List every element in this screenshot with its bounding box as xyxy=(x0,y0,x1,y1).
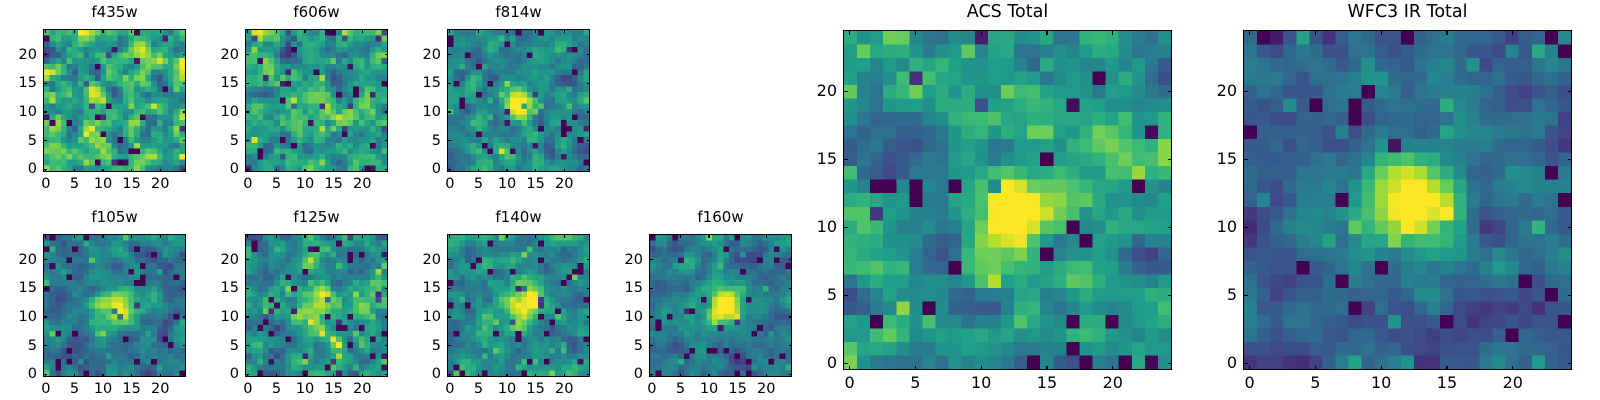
x-tick-label-wfc3-ir-total-0: 0 xyxy=(1244,375,1254,391)
x-tick-label-f814w-2: 10 xyxy=(498,177,516,192)
x-tick-label-f140w-2: 10 xyxy=(498,382,516,397)
y-tick-label-f160w-1: 5 xyxy=(591,338,643,353)
x-tick-top-f160w-2 xyxy=(708,234,709,238)
x-tick-f814w-2 xyxy=(506,169,507,173)
y-tick-f435w-2 xyxy=(43,111,47,112)
x-tick-label-f435w-3: 15 xyxy=(122,177,140,192)
x-tick-top-wfc3-ir-total-4 xyxy=(1512,30,1513,35)
x-tick-top-f606w-1 xyxy=(276,29,277,33)
x-tick-f125w-3 xyxy=(333,374,334,378)
x-tick-label-f606w-2: 10 xyxy=(296,177,314,192)
y-tick-label-acs-total-4: 20 xyxy=(785,83,837,99)
x-tick-label-acs-total-2: 10 xyxy=(971,375,991,391)
y-tick-label-f140w-3: 15 xyxy=(389,281,441,296)
y-tick-label-acs-total-1: 5 xyxy=(785,287,837,303)
x-tick-top-f814w-1 xyxy=(478,29,479,33)
y-tick-label-f140w-1: 5 xyxy=(389,338,441,353)
y-tick-right-wfc3-ir-total-4 xyxy=(1568,91,1573,92)
y-tick-right-f160w-1 xyxy=(789,345,793,346)
y-tick-right-f160w-0 xyxy=(789,374,793,375)
heatmap-image-acs-total xyxy=(843,30,1172,370)
y-tick-label-f105w-4: 20 xyxy=(0,252,37,267)
x-tick-top-acs-total-0 xyxy=(849,30,850,35)
y-tick-label-f125w-2: 10 xyxy=(187,310,239,325)
y-tick-label-f435w-1: 5 xyxy=(0,133,37,148)
panel-title-f435w: f435w xyxy=(43,5,186,20)
panel-f435w: f435w xyxy=(43,5,186,172)
y-tick-right-wfc3-ir-total-1 xyxy=(1568,295,1573,296)
heatmap-canvas-wfc3-ir-total xyxy=(1244,31,1571,369)
y-tick-acs-total-1 xyxy=(843,295,848,296)
heatmap-image-wfc3-ir-total xyxy=(1243,30,1572,370)
x-tick-f160w-3 xyxy=(737,374,738,378)
x-tick-f140w-4 xyxy=(564,374,565,378)
x-tick-label-f125w-3: 15 xyxy=(324,382,342,397)
x-tick-top-f140w-3 xyxy=(535,234,536,238)
y-tick-right-f125w-0 xyxy=(385,374,389,375)
y-tick-right-acs-total-4 xyxy=(1168,91,1173,92)
y-tick-label-f160w-0: 0 xyxy=(591,367,643,382)
x-tick-acs-total-0 xyxy=(849,366,850,371)
x-tick-top-acs-total-1 xyxy=(915,30,916,35)
y-tick-f105w-1 xyxy=(43,345,47,346)
x-tick-f435w-2 xyxy=(102,169,103,173)
y-tick-wfc3-ir-total-1 xyxy=(1243,295,1248,296)
x-tick-label-acs-total-1: 5 xyxy=(910,375,920,391)
y-tick-right-f435w-3 xyxy=(183,83,187,84)
heatmap-canvas-f105w xyxy=(44,235,185,376)
x-tick-f606w-1 xyxy=(276,169,277,173)
x-tick-top-f814w-4 xyxy=(564,29,565,33)
x-tick-top-f140w-4 xyxy=(564,234,565,238)
x-tick-label-f435w-0: 0 xyxy=(41,177,50,192)
y-tick-label-acs-total-2: 10 xyxy=(785,219,837,235)
x-tick-label-f105w-4: 20 xyxy=(151,382,169,397)
heatmap-canvas-acs-total xyxy=(844,31,1171,369)
panel-acs-total: ACS Total xyxy=(843,4,1172,370)
y-tick-right-acs-total-1 xyxy=(1168,295,1173,296)
x-tick-top-f140w-1 xyxy=(478,234,479,238)
y-tick-f606w-3 xyxy=(245,83,249,84)
y-tick-label-wfc3-ir-total-3: 15 xyxy=(1185,151,1237,167)
y-tick-right-f606w-0 xyxy=(385,169,389,170)
y-tick-f140w-3 xyxy=(447,288,451,289)
x-tick-wfc3-ir-total-1 xyxy=(1315,366,1316,371)
y-tick-label-f814w-2: 10 xyxy=(389,105,441,120)
y-tick-right-f606w-1 xyxy=(385,140,389,141)
x-tick-label-f140w-1: 5 xyxy=(474,382,483,397)
x-tick-label-f125w-2: 10 xyxy=(296,382,314,397)
x-tick-label-f125w-4: 20 xyxy=(353,382,371,397)
x-tick-label-f435w-2: 10 xyxy=(94,177,112,192)
y-tick-label-f606w-3: 15 xyxy=(187,76,239,91)
y-tick-f125w-3 xyxy=(245,288,249,289)
y-tick-right-f140w-4 xyxy=(587,259,591,260)
y-tick-right-acs-total-0 xyxy=(1168,363,1173,364)
x-tick-label-f105w-3: 15 xyxy=(122,382,140,397)
panel-title-f105w: f105w xyxy=(43,210,186,225)
y-tick-f814w-0 xyxy=(447,169,451,170)
y-tick-label-f606w-2: 10 xyxy=(187,105,239,120)
x-tick-wfc3-ir-total-3 xyxy=(1446,366,1447,371)
panel-title-f814w: f814w xyxy=(447,5,590,20)
y-tick-f105w-3 xyxy=(43,288,47,289)
x-tick-f140w-3 xyxy=(535,374,536,378)
panel-title-wfc3-ir-total: WFC3 IR Total xyxy=(1243,4,1572,22)
y-tick-f125w-2 xyxy=(245,316,249,317)
x-tick-label-f435w-4: 20 xyxy=(151,177,169,192)
x-tick-top-f606w-3 xyxy=(333,29,334,33)
x-tick-label-f125w-0: 0 xyxy=(243,382,252,397)
x-tick-label-f814w-3: 15 xyxy=(526,177,544,192)
x-tick-label-f125w-1: 5 xyxy=(272,382,281,397)
y-tick-right-f105w-3 xyxy=(183,288,187,289)
y-tick-right-f606w-4 xyxy=(385,54,389,55)
x-tick-f105w-2 xyxy=(102,374,103,378)
panel-title-f606w: f606w xyxy=(245,5,388,20)
x-tick-label-f606w-1: 5 xyxy=(272,177,281,192)
y-tick-right-f140w-3 xyxy=(587,288,591,289)
y-tick-right-f105w-0 xyxy=(183,374,187,375)
x-tick-label-wfc3-ir-total-4: 20 xyxy=(1503,375,1523,391)
x-tick-top-f160w-1 xyxy=(680,234,681,238)
x-tick-f435w-4 xyxy=(160,169,161,173)
y-tick-label-f140w-0: 0 xyxy=(389,367,441,382)
y-tick-f435w-4 xyxy=(43,54,47,55)
x-tick-top-f140w-2 xyxy=(506,234,507,238)
y-tick-label-f125w-0: 0 xyxy=(187,367,239,382)
y-tick-f125w-0 xyxy=(245,374,249,375)
x-tick-top-f105w-2 xyxy=(102,234,103,238)
y-tick-label-f125w-1: 5 xyxy=(187,338,239,353)
x-tick-label-f160w-0: 0 xyxy=(647,382,656,397)
x-tick-top-f105w-3 xyxy=(131,234,132,238)
x-tick-top-f814w-2 xyxy=(506,29,507,33)
y-tick-right-f160w-4 xyxy=(789,259,793,260)
heatmap-image-f125w xyxy=(245,234,388,377)
y-tick-right-f125w-3 xyxy=(385,288,389,289)
y-tick-right-f105w-1 xyxy=(183,345,187,346)
y-tick-right-acs-total-3 xyxy=(1168,159,1173,160)
x-tick-label-f606w-0: 0 xyxy=(243,177,252,192)
y-tick-f435w-1 xyxy=(43,140,47,141)
panel-title-f140w: f140w xyxy=(447,210,590,225)
y-tick-label-f105w-3: 15 xyxy=(0,281,37,296)
y-tick-acs-total-4 xyxy=(843,91,848,92)
x-tick-label-wfc3-ir-total-2: 10 xyxy=(1371,375,1391,391)
heatmap-canvas-f140w xyxy=(448,235,589,376)
panel-f814w: f814w xyxy=(447,5,590,172)
y-tick-f160w-4 xyxy=(649,259,653,260)
x-tick-f160w-2 xyxy=(708,374,709,378)
heatmap-image-f435w xyxy=(43,29,186,172)
y-tick-label-f435w-2: 10 xyxy=(0,105,37,120)
y-tick-f140w-2 xyxy=(447,316,451,317)
y-tick-label-f814w-3: 15 xyxy=(389,76,441,91)
panel-f125w: f125w xyxy=(245,210,388,377)
x-tick-label-f160w-1: 5 xyxy=(676,382,685,397)
x-tick-f814w-1 xyxy=(478,169,479,173)
x-tick-acs-total-1 xyxy=(915,366,916,371)
y-tick-label-f105w-2: 10 xyxy=(0,310,37,325)
heatmap-canvas-f606w xyxy=(246,30,387,171)
x-tick-wfc3-ir-total-0 xyxy=(1249,366,1250,371)
x-tick-label-f814w-0: 0 xyxy=(445,177,454,192)
y-tick-f814w-1 xyxy=(447,140,451,141)
x-tick-label-f814w-4: 20 xyxy=(555,177,573,192)
y-tick-label-f160w-2: 10 xyxy=(591,310,643,325)
y-tick-f105w-4 xyxy=(43,259,47,260)
x-tick-f105w-3 xyxy=(131,374,132,378)
y-tick-right-f125w-2 xyxy=(385,316,389,317)
x-tick-label-f160w-2: 10 xyxy=(700,382,718,397)
y-tick-label-f140w-4: 20 xyxy=(389,252,441,267)
x-tick-top-wfc3-ir-total-1 xyxy=(1315,30,1316,35)
y-tick-right-f814w-0 xyxy=(587,169,591,170)
y-tick-f160w-3 xyxy=(649,288,653,289)
x-tick-label-f105w-0: 0 xyxy=(41,382,50,397)
heatmap-canvas-f435w xyxy=(44,30,185,171)
heatmap-image-f140w xyxy=(447,234,590,377)
x-tick-f125w-1 xyxy=(276,374,277,378)
x-tick-top-f125w-3 xyxy=(333,234,334,238)
y-tick-right-f814w-3 xyxy=(587,83,591,84)
x-tick-top-f105w-0 xyxy=(45,234,46,238)
y-tick-right-wfc3-ir-total-3 xyxy=(1568,159,1573,160)
x-tick-top-wfc3-ir-total-2 xyxy=(1381,30,1382,35)
x-tick-top-acs-total-2 xyxy=(981,30,982,35)
y-tick-f606w-2 xyxy=(245,111,249,112)
y-tick-right-f435w-0 xyxy=(183,169,187,170)
x-tick-label-acs-total-4: 20 xyxy=(1103,375,1123,391)
y-tick-acs-total-2 xyxy=(843,227,848,228)
y-tick-f435w-3 xyxy=(43,83,47,84)
panel-title-acs-total: ACS Total xyxy=(843,4,1172,22)
y-tick-right-wfc3-ir-total-0 xyxy=(1568,363,1573,364)
y-tick-label-acs-total-0: 0 xyxy=(785,355,837,371)
figure-canvas: f435w0510152005101520f606w05101520051015… xyxy=(0,0,1600,400)
y-tick-f125w-1 xyxy=(245,345,249,346)
heatmap-image-f160w xyxy=(649,234,792,377)
x-tick-label-f606w-4: 20 xyxy=(353,177,371,192)
y-tick-right-f435w-2 xyxy=(183,111,187,112)
x-tick-label-wfc3-ir-total-3: 15 xyxy=(1437,375,1457,391)
x-tick-f140w-1 xyxy=(478,374,479,378)
x-tick-label-f606w-3: 15 xyxy=(324,177,342,192)
y-tick-right-f125w-4 xyxy=(385,259,389,260)
y-tick-right-f105w-4 xyxy=(183,259,187,260)
y-tick-label-acs-total-3: 15 xyxy=(785,151,837,167)
y-tick-acs-total-3 xyxy=(843,159,848,160)
x-tick-acs-total-3 xyxy=(1046,366,1047,371)
y-tick-f160w-2 xyxy=(649,316,653,317)
y-tick-f140w-4 xyxy=(447,259,451,260)
x-tick-label-f140w-3: 15 xyxy=(526,382,544,397)
x-tick-label-f140w-0: 0 xyxy=(445,382,454,397)
x-tick-top-f435w-2 xyxy=(102,29,103,33)
panel-wfc3-ir-total: WFC3 IR Total xyxy=(1243,4,1572,370)
y-tick-label-f105w-1: 5 xyxy=(0,338,37,353)
panel-f606w: f606w xyxy=(245,5,388,172)
y-tick-right-f435w-4 xyxy=(183,54,187,55)
x-tick-f125w-2 xyxy=(304,374,305,378)
x-tick-label-f814w-1: 5 xyxy=(474,177,483,192)
y-tick-f606w-1 xyxy=(245,140,249,141)
y-tick-right-f125w-1 xyxy=(385,345,389,346)
x-tick-label-f435w-1: 5 xyxy=(70,177,79,192)
y-tick-wfc3-ir-total-3 xyxy=(1243,159,1248,160)
x-tick-f814w-3 xyxy=(535,169,536,173)
y-tick-acs-total-0 xyxy=(843,363,848,364)
y-tick-label-wfc3-ir-total-4: 20 xyxy=(1185,83,1237,99)
x-tick-f105w-1 xyxy=(74,374,75,378)
y-tick-right-f814w-2 xyxy=(587,111,591,112)
x-tick-f160w-1 xyxy=(680,374,681,378)
x-tick-wfc3-ir-total-2 xyxy=(1381,366,1382,371)
heatmap-canvas-f814w xyxy=(448,30,589,171)
x-tick-acs-total-2 xyxy=(981,366,982,371)
y-tick-label-f140w-2: 10 xyxy=(389,310,441,325)
y-tick-right-f140w-1 xyxy=(587,345,591,346)
y-tick-label-f606w-1: 5 xyxy=(187,133,239,148)
x-tick-f606w-4 xyxy=(362,169,363,173)
x-tick-f435w-3 xyxy=(131,169,132,173)
x-tick-f814w-4 xyxy=(564,169,565,173)
x-tick-top-wfc3-ir-total-0 xyxy=(1249,30,1250,35)
y-tick-f606w-4 xyxy=(245,54,249,55)
x-tick-wfc3-ir-total-4 xyxy=(1512,366,1513,371)
x-tick-acs-total-4 xyxy=(1112,366,1113,371)
y-tick-right-f435w-1 xyxy=(183,140,187,141)
y-tick-right-f606w-2 xyxy=(385,111,389,112)
y-tick-label-wfc3-ir-total-2: 10 xyxy=(1185,219,1237,235)
y-tick-label-f435w-3: 15 xyxy=(0,76,37,91)
x-tick-f606w-2 xyxy=(304,169,305,173)
x-tick-top-acs-total-3 xyxy=(1046,30,1047,35)
x-tick-f160w-4 xyxy=(766,374,767,378)
y-tick-label-f814w-0: 0 xyxy=(389,162,441,177)
y-tick-f105w-2 xyxy=(43,316,47,317)
y-tick-label-wfc3-ir-total-1: 5 xyxy=(1185,287,1237,303)
y-tick-right-f814w-1 xyxy=(587,140,591,141)
y-tick-right-f140w-2 xyxy=(587,316,591,317)
x-tick-top-f814w-3 xyxy=(535,29,536,33)
y-tick-right-f606w-3 xyxy=(385,83,389,84)
x-tick-label-acs-total-3: 15 xyxy=(1037,375,1057,391)
y-tick-right-wfc3-ir-total-2 xyxy=(1568,227,1573,228)
x-tick-top-f125w-0 xyxy=(247,234,248,238)
y-tick-label-f814w-4: 20 xyxy=(389,47,441,62)
x-tick-top-f160w-3 xyxy=(737,234,738,238)
y-tick-label-f435w-0: 0 xyxy=(0,162,37,177)
panel-f160w: f160w xyxy=(649,210,792,377)
panel-title-f160w: f160w xyxy=(649,210,792,225)
y-tick-f435w-0 xyxy=(43,169,47,170)
x-tick-f140w-2 xyxy=(506,374,507,378)
y-tick-label-f160w-4: 20 xyxy=(591,252,643,267)
y-tick-label-f606w-0: 0 xyxy=(187,162,239,177)
x-tick-top-f606w-2 xyxy=(304,29,305,33)
x-tick-top-f160w-4 xyxy=(766,234,767,238)
heatmap-image-f814w xyxy=(447,29,590,172)
heatmap-image-f105w xyxy=(43,234,186,377)
x-tick-top-f125w-4 xyxy=(362,234,363,238)
y-tick-f606w-0 xyxy=(245,169,249,170)
x-tick-label-f160w-4: 20 xyxy=(757,382,775,397)
y-tick-right-f140w-0 xyxy=(587,374,591,375)
y-tick-label-wfc3-ir-total-0: 0 xyxy=(1185,355,1237,371)
y-tick-f125w-4 xyxy=(245,259,249,260)
y-tick-f140w-1 xyxy=(447,345,451,346)
x-tick-f125w-4 xyxy=(362,374,363,378)
x-tick-top-acs-total-4 xyxy=(1112,30,1113,35)
y-tick-wfc3-ir-total-0 xyxy=(1243,363,1248,364)
y-tick-label-f105w-0: 0 xyxy=(0,367,37,382)
y-tick-label-f435w-4: 20 xyxy=(0,47,37,62)
y-tick-label-f814w-1: 5 xyxy=(389,133,441,148)
x-tick-f105w-4 xyxy=(160,374,161,378)
y-tick-label-f160w-3: 15 xyxy=(591,281,643,296)
panel-f105w: f105w xyxy=(43,210,186,377)
x-tick-top-f606w-0 xyxy=(247,29,248,33)
x-tick-label-f140w-4: 20 xyxy=(555,382,573,397)
x-tick-top-f140w-0 xyxy=(449,234,450,238)
x-tick-top-f814w-0 xyxy=(449,29,450,33)
y-tick-f160w-0 xyxy=(649,374,653,375)
y-tick-label-f125w-4: 20 xyxy=(187,252,239,267)
panel-f140w: f140w xyxy=(447,210,590,377)
x-tick-label-acs-total-0: 0 xyxy=(844,375,854,391)
heatmap-image-f606w xyxy=(245,29,388,172)
x-tick-top-f435w-0 xyxy=(45,29,46,33)
x-tick-top-f105w-4 xyxy=(160,234,161,238)
y-tick-f814w-4 xyxy=(447,54,451,55)
x-tick-label-f160w-3: 15 xyxy=(728,382,746,397)
y-tick-f814w-2 xyxy=(447,111,451,112)
x-tick-f606w-3 xyxy=(333,169,334,173)
y-tick-label-f606w-4: 20 xyxy=(187,47,239,62)
x-tick-top-f606w-4 xyxy=(362,29,363,33)
x-tick-label-wfc3-ir-total-1: 5 xyxy=(1310,375,1320,391)
y-tick-f105w-0 xyxy=(43,374,47,375)
y-tick-right-f814w-4 xyxy=(587,54,591,55)
y-tick-right-f105w-2 xyxy=(183,316,187,317)
y-tick-wfc3-ir-total-2 xyxy=(1243,227,1248,228)
heatmap-canvas-f160w xyxy=(650,235,791,376)
x-tick-f435w-1 xyxy=(74,169,75,173)
y-tick-f814w-3 xyxy=(447,83,451,84)
x-tick-top-f435w-4 xyxy=(160,29,161,33)
y-tick-f160w-1 xyxy=(649,345,653,346)
x-tick-label-f105w-2: 10 xyxy=(94,382,112,397)
y-tick-right-f160w-2 xyxy=(789,316,793,317)
x-tick-top-f105w-1 xyxy=(74,234,75,238)
x-tick-top-f125w-2 xyxy=(304,234,305,238)
y-tick-wfc3-ir-total-4 xyxy=(1243,91,1248,92)
x-tick-label-f105w-1: 5 xyxy=(70,382,79,397)
y-tick-label-f125w-3: 15 xyxy=(187,281,239,296)
x-tick-top-f125w-1 xyxy=(276,234,277,238)
x-tick-top-f435w-1 xyxy=(74,29,75,33)
x-tick-top-f435w-3 xyxy=(131,29,132,33)
panel-title-f125w: f125w xyxy=(245,210,388,225)
x-tick-top-f160w-0 xyxy=(651,234,652,238)
y-tick-f140w-0 xyxy=(447,374,451,375)
heatmap-canvas-f125w xyxy=(246,235,387,376)
y-tick-right-acs-total-2 xyxy=(1168,227,1173,228)
x-tick-top-wfc3-ir-total-3 xyxy=(1446,30,1447,35)
